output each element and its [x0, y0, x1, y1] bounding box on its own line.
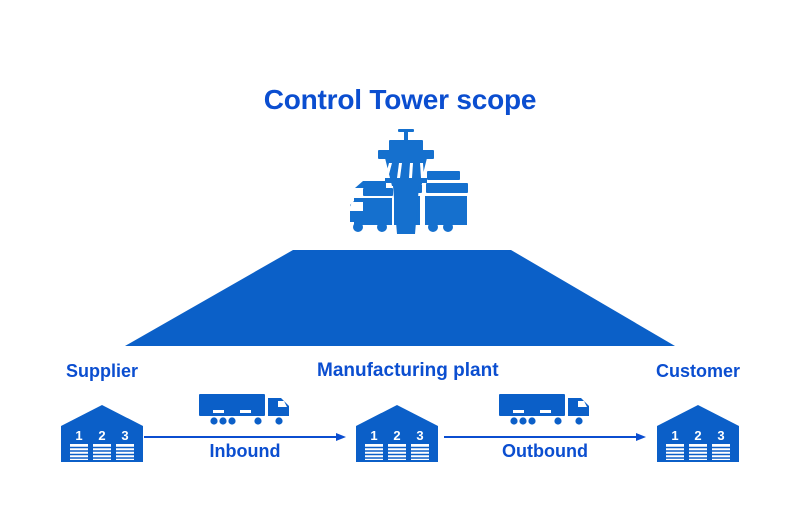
bay-number: 3 [416, 428, 423, 443]
node-customer[interactable]: Customer 1 2 [618, 360, 778, 382]
node-supplier[interactable]: Supplier 1 2 [22, 360, 182, 382]
warehouse-icon: 1 2 3 [356, 404, 438, 462]
truck-icon [199, 392, 291, 426]
node-supplier-label: Supplier [22, 360, 182, 382]
truck-icon [499, 392, 591, 426]
node-plant[interactable]: Manufacturing plant 1 [317, 360, 477, 382]
bay-number: 1 [75, 428, 82, 443]
bay-number: 2 [694, 428, 701, 443]
bay-number: 1 [370, 428, 377, 443]
warehouse-icon: 1 2 3 [657, 404, 739, 462]
bay-number: 3 [121, 428, 128, 443]
bay-number: 3 [717, 428, 724, 443]
node-customer-label: Customer [618, 360, 778, 382]
bay-number: 2 [393, 428, 400, 443]
flow-outbound-label: Outbound [440, 441, 650, 462]
warehouse-icon: 1 2 3 [61, 404, 143, 462]
diagram-canvas: Control Tower scope [0, 0, 800, 530]
node-plant-label: Manufacturing plant [317, 360, 477, 382]
control-tower-scope-shape [125, 250, 675, 348]
flow-inbound-label: Inbound [140, 441, 350, 462]
control-tower-icon [330, 126, 480, 246]
page-title: Control Tower scope [0, 84, 800, 116]
bay-number: 2 [98, 428, 105, 443]
bay-number: 1 [671, 428, 678, 443]
